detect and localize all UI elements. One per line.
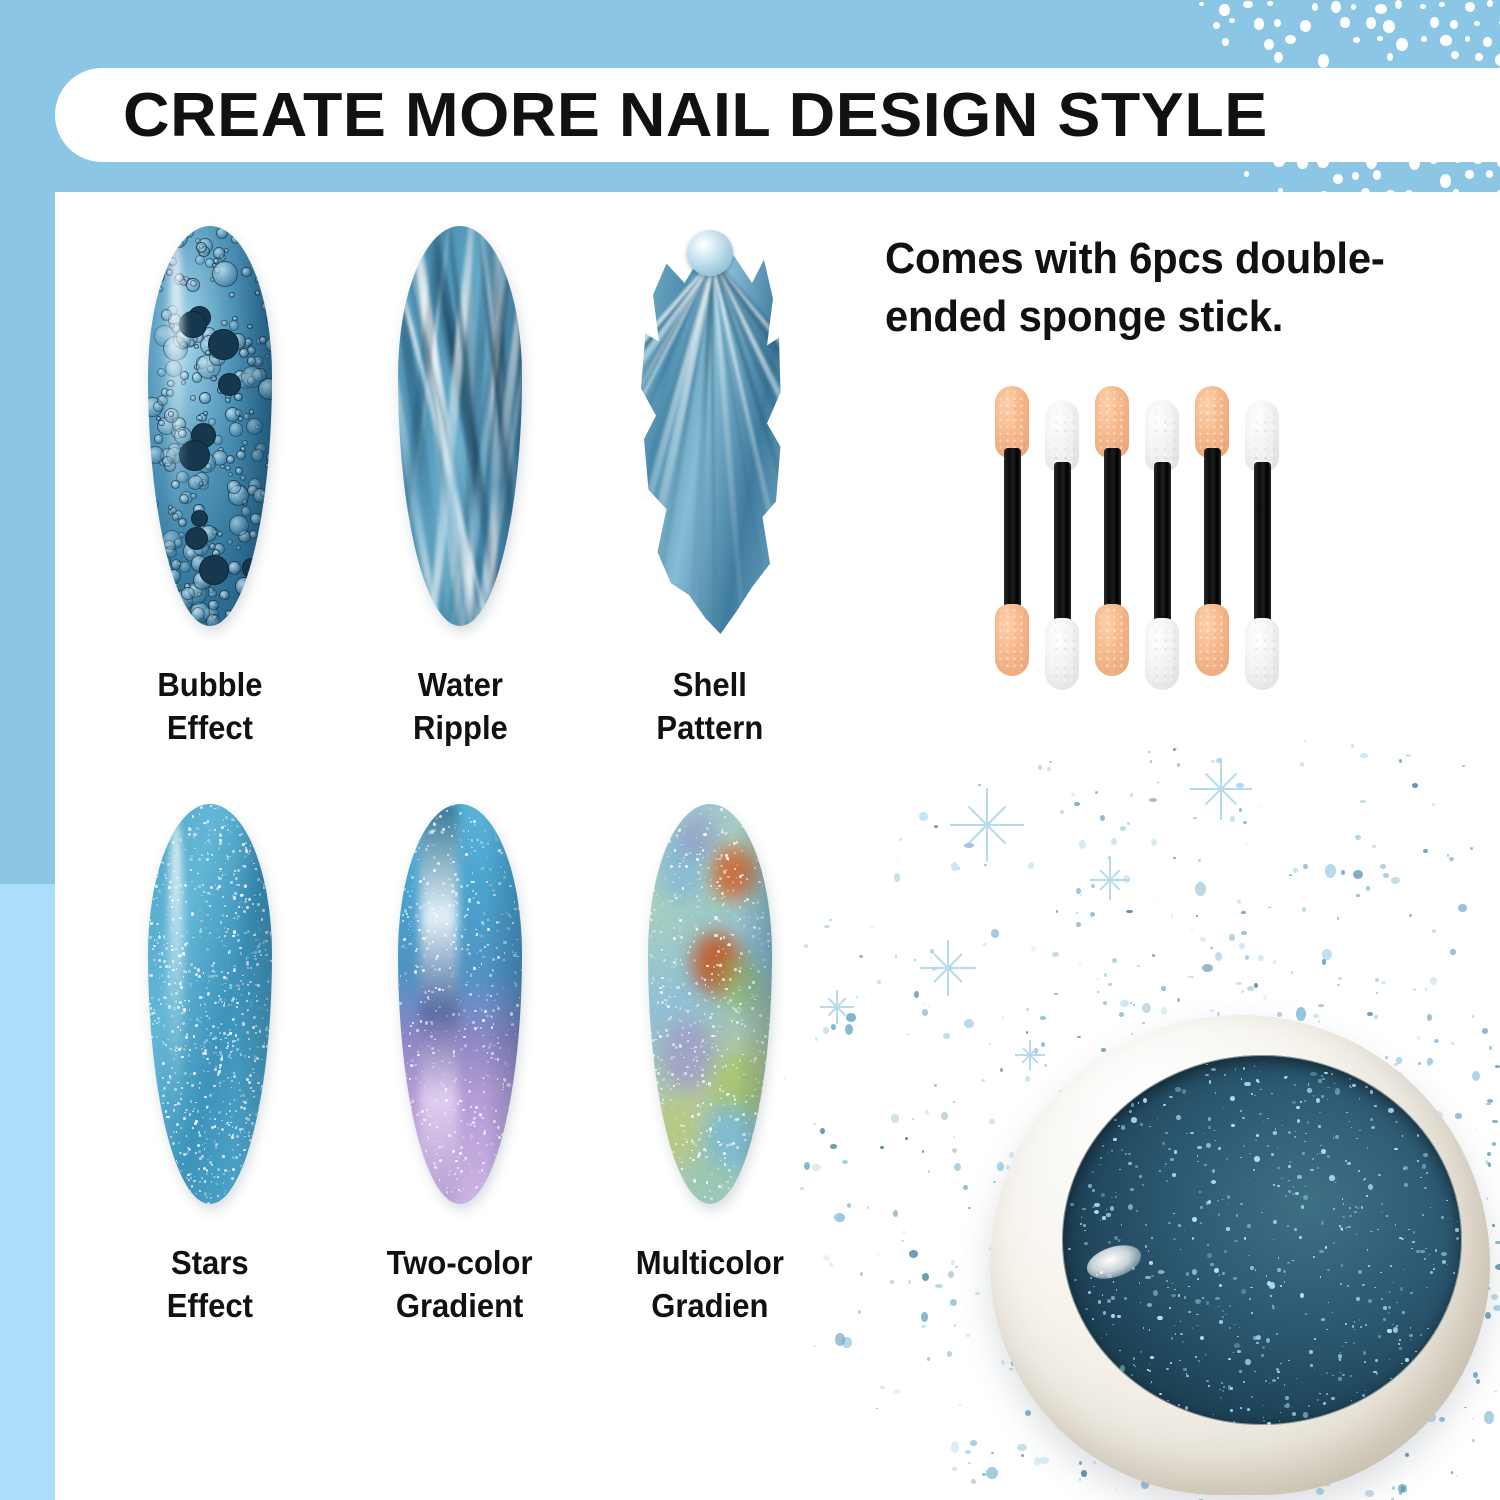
nail-art-water-ripple: [398, 220, 522, 656]
nail-art-stars-effect: [148, 798, 272, 1234]
note-line-2: ended sponge stick.: [885, 288, 1455, 346]
sponge-stick-group: [995, 386, 1295, 676]
label-line-1: Two-color: [387, 1242, 533, 1285]
stick-handle: [1204, 448, 1221, 616]
shell-body: [635, 244, 785, 634]
nail-label-water-ripple: Water Ripple: [413, 664, 508, 750]
nail-art-two-color-gradient: [398, 798, 522, 1234]
sponge-stick[interactable]: [1045, 400, 1079, 690]
nail-row-2: Stars Effect Two-color Gradien: [85, 798, 845, 1328]
nail-sample-water-ripple[interactable]: Water Ripple: [335, 220, 585, 750]
nail-shape-ripple: [398, 226, 522, 626]
infographic-canvas: CREATE MORE NAIL DESIGN STYLE Bubble: [0, 0, 1500, 1500]
label-line-2: Ripple: [413, 707, 508, 750]
nail-label-two-color-gradient: Two-color Gradient: [387, 1242, 533, 1328]
label-line-1: Bubble: [157, 664, 262, 707]
stick-handle: [1004, 448, 1021, 616]
sponge-stick[interactable]: [995, 386, 1029, 676]
nail-gloss-highlight: [168, 820, 184, 1132]
nail-sample-shell-pattern[interactable]: Shell Pattern: [585, 220, 835, 750]
sponge-stick[interactable]: [1245, 400, 1279, 690]
sponge-tip-bottom: [1095, 604, 1129, 676]
nail-label-stars-effect: Stars Effect: [167, 1242, 253, 1328]
header-banner: CREATE MORE NAIL DESIGN STYLE: [55, 68, 1500, 162]
label-line-2: Pattern: [657, 707, 764, 750]
sparkle-icon: [1090, 860, 1130, 900]
sponge-tip-bottom: [1195, 604, 1229, 676]
nail-shadow: [485, 226, 522, 626]
nail-shape-bubble: [148, 226, 272, 626]
sparkle-icon: [1190, 758, 1252, 820]
page-title: CREATE MORE NAIL DESIGN STYLE: [123, 80, 1268, 151]
nail-shadow: [485, 804, 522, 1204]
sponge-tip-bottom: [1245, 618, 1279, 690]
sparkle-icon: [820, 990, 854, 1024]
nail-sample-stars-effect[interactable]: Stars Effect: [85, 798, 335, 1328]
sponge-stick[interactable]: [1195, 386, 1229, 676]
sponge-tip-bottom: [995, 604, 1029, 676]
label-line-1: Shell: [657, 664, 764, 707]
nail-shape-stars: [148, 804, 272, 1204]
label-line-2: Gradient: [387, 1285, 533, 1328]
glitter-powder-jar[interactable]: [990, 1015, 1490, 1495]
sponge-stick-note: Comes with 6pcs double- ended sponge sti…: [885, 230, 1485, 346]
nail-sample-two-color-gradient[interactable]: Two-color Gradient: [335, 798, 585, 1328]
sponge-tip-bottom: [1145, 618, 1179, 690]
nail-shadow: [235, 226, 272, 626]
label-line-1: Water: [413, 664, 508, 707]
label-line-2: Effect: [157, 707, 262, 750]
note-line-1: Comes with 6pcs double-: [885, 230, 1455, 288]
nail-gloss-highlight: [168, 242, 184, 554]
pearl-icon: [687, 230, 733, 276]
nail-shape-shell: [635, 226, 785, 636]
sparkle-icon: [950, 788, 1024, 862]
stick-handle: [1254, 462, 1271, 630]
label-line-1: Stars: [167, 1242, 253, 1285]
sponge-stick[interactable]: [1095, 386, 1129, 676]
sponge-tip-bottom: [1045, 618, 1079, 690]
nail-art-multicolor-gradient: [648, 798, 772, 1234]
nail-shadow: [235, 804, 272, 1204]
nail-art-shell-pattern: [635, 220, 785, 656]
nail-sample-bubble-effect[interactable]: Bubble Effect: [85, 220, 335, 750]
nail-label-bubble-effect: Bubble Effect: [157, 664, 262, 750]
nail-sample-grid: Bubble Effect Water Ripple: [85, 220, 845, 1328]
sponge-stick[interactable]: [1145, 400, 1179, 690]
label-line-2: Effect: [167, 1285, 253, 1328]
nail-shape-multicolor: [648, 804, 772, 1204]
nail-row-1: Bubble Effect Water Ripple: [85, 220, 845, 750]
nail-art-bubble-effect: [148, 220, 272, 656]
jar-powder-surface: [1062, 1055, 1462, 1425]
sparkle-icon: [1015, 1040, 1045, 1070]
sparkle-icon: [920, 940, 976, 996]
stick-handle: [1104, 448, 1121, 616]
stick-handle: [1054, 462, 1071, 630]
nail-label-shell-pattern: Shell Pattern: [657, 664, 764, 750]
nail-shape-two-color: [398, 804, 522, 1204]
stick-handle: [1154, 462, 1171, 630]
